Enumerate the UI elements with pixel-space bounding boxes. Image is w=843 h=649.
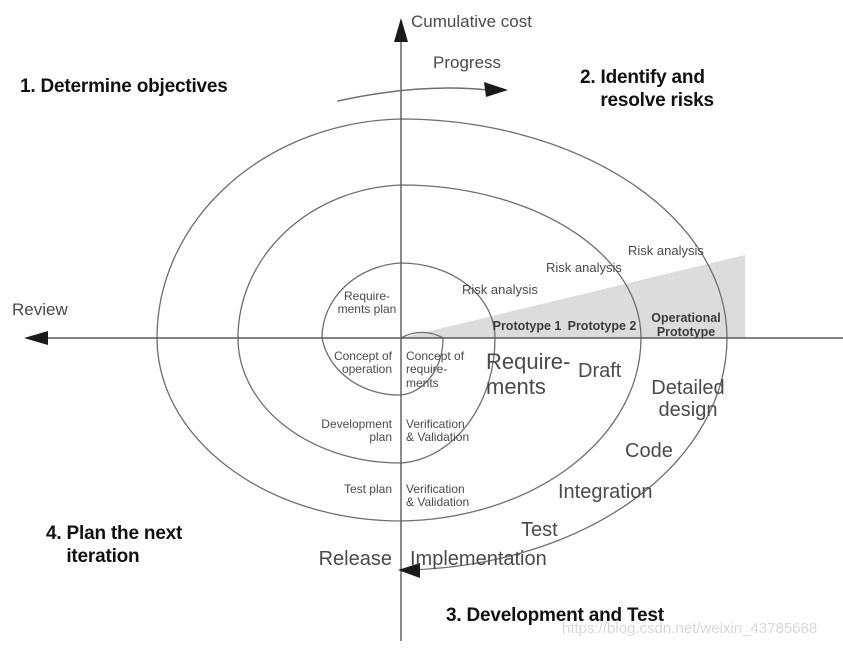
spiral-model-diagram: Cumulative cost Review Progress 1. Deter…	[0, 0, 843, 649]
label-concept-of-requirements: Concept of require- ments	[406, 350, 464, 390]
label-requirements: Require- ments	[486, 350, 570, 399]
label-operational-prototype: Operational Prototype	[645, 311, 727, 340]
label-risk-analysis-1: Risk analysis	[462, 283, 538, 298]
label-prototype-1: Prototype 1	[486, 319, 568, 333]
vertical-axis-arrowhead	[394, 18, 408, 42]
label-draft: Draft	[578, 360, 621, 382]
label-test-plan: Test plan	[312, 483, 392, 496]
label-risk-analysis-3: Risk analysis	[628, 244, 704, 259]
label-code: Code	[625, 440, 673, 462]
label-development-plan: Development plan	[312, 418, 392, 445]
heading-determine-objectives: 1. Determine objectives	[20, 75, 228, 98]
label-concept-of-operation: Concept of operation	[326, 350, 392, 377]
review-label: Review	[12, 300, 68, 320]
label-risk-analysis-2: Risk analysis	[546, 261, 622, 276]
label-release: Release	[300, 548, 392, 570]
label-test: Test	[521, 519, 558, 541]
heading-identify-resolve-risks: 2. Identify and resolve risks	[580, 66, 714, 112]
label-integration: Integration	[558, 481, 653, 503]
label-verification-validation-2: Verification & Validation	[406, 483, 469, 510]
label-requirements-plan: Require- ments plan	[336, 290, 398, 317]
heading-plan-next-iteration: 4. Plan the next iteration	[46, 522, 182, 568]
progress-label: Progress	[433, 53, 501, 73]
cumulative-cost-label: Cumulative cost	[411, 12, 532, 32]
horizontal-axis-arrowhead	[24, 331, 48, 345]
progress-arrow-curve	[338, 88, 488, 101]
label-verification-validation-1: Verification & Validation	[406, 418, 469, 445]
watermark: https://blog.csdn.net/weixin_43785688	[562, 620, 817, 637]
progress-arrowhead	[484, 82, 508, 97]
label-prototype-2: Prototype 2	[561, 319, 643, 333]
label-implementation: Implementation	[410, 548, 547, 570]
label-detailed-design: Detailed design	[640, 377, 736, 422]
